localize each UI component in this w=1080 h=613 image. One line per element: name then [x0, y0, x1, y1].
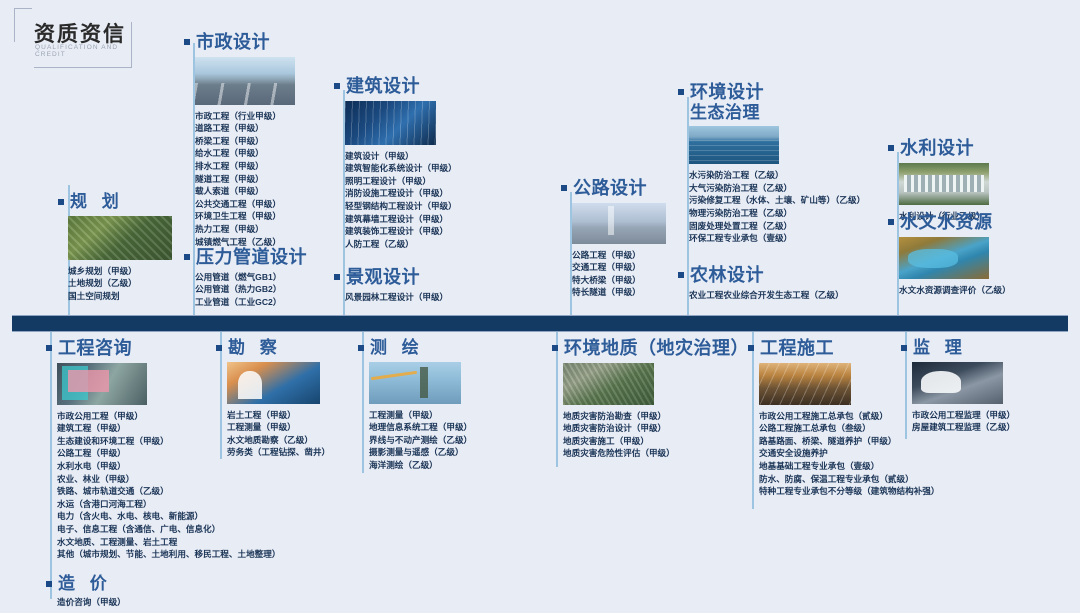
list-item: 特种工程专业承包不分等级（建筑物结构补强）	[759, 485, 988, 498]
bullet-square-icon	[58, 199, 64, 205]
list-item: 水运（含港口河海工程）	[57, 498, 346, 511]
thumbnail-dam-spillway-photo	[899, 163, 989, 205]
block-header: 勘 察	[216, 338, 366, 358]
list-item: 公用管道（燃气GB1）	[195, 271, 344, 284]
list-item: 消防设施工程设计（甲级）	[345, 187, 524, 200]
list-item: 市政工程（行业甲级）	[195, 110, 344, 123]
block-geotechnical-investigation: 勘 察 岩土工程（甲级） 工程测量（甲级） 水文地质勘察（乙级） 劳务类（工程钻…	[216, 338, 366, 459]
bullet-square-icon	[46, 581, 52, 587]
bullet-square-icon	[901, 345, 907, 351]
bullet-square-icon	[678, 272, 684, 278]
block-hydrology-water-resources: 水文水资源 水文水资源调查评价（乙级）	[888, 212, 1078, 296]
bullet-square-icon	[561, 185, 567, 191]
block-items: 市政公用工程监理（甲级） 房屋建筑工程监理（乙级）	[912, 409, 1071, 434]
thumbnail-overlay	[371, 371, 417, 381]
block-title: 景观设计	[346, 267, 420, 288]
block-environmental-geology: 环境地质（地灾治理） 地质灾害防治勘查（甲级） 地质灾害防治设计（甲级） 地质灾…	[552, 338, 752, 460]
list-item: 地基基础工程专业承包（壹级）	[759, 460, 988, 473]
list-item: 建筑设计（甲级）	[345, 150, 524, 163]
block-header: 测 绘	[358, 338, 518, 358]
list-item: 地质灾害危险性评估（甲级）	[563, 447, 752, 460]
list-item: 给水工程（甲级）	[195, 147, 344, 160]
bullet-square-icon	[552, 345, 558, 351]
bullet-square-icon	[888, 219, 894, 225]
thumbnail-city-road-photo	[195, 57, 295, 105]
list-item: 路基路面、桥梁、隧道养护（甲级）	[759, 435, 988, 448]
block-landscape-design: 景观设计 风景园林工程设计（甲级）	[334, 267, 524, 303]
block-title: 工程咨询	[58, 338, 132, 359]
thumbnail-sea-water-photo	[689, 126, 779, 164]
block-title: 建筑设计	[346, 76, 420, 97]
bullet-square-icon	[358, 345, 364, 351]
list-item: 隧道工程（甲级）	[195, 173, 344, 186]
block-items: 造价咨询（甲级）	[57, 596, 346, 609]
block-title: 监 理	[913, 338, 967, 358]
thumbnail-skyscraper-night-photo	[345, 101, 436, 145]
block-title: 水利设计	[900, 138, 974, 159]
block-header: 环境地质（地灾治理）	[552, 338, 752, 359]
thumbnail-highway-bridge-photo	[572, 203, 666, 244]
block-architectural-design: 建筑设计 建筑设计（甲级） 建筑智能化系统设计（甲级） 照明工程设计（甲级） 消…	[334, 76, 524, 250]
list-item: 国土空间规划	[68, 290, 188, 303]
list-item: 桥梁工程（甲级）	[195, 135, 344, 148]
block-header: 建筑设计	[334, 76, 524, 97]
list-item: 公用管道（热力GB2）	[195, 283, 344, 296]
list-item: 电力（含火电、水电、核电、新能源）	[57, 510, 346, 523]
block-items: 地质灾害防治勘查（甲级） 地质灾害防治设计（甲级） 地质灾害施工（甲级） 地质灾…	[563, 410, 752, 460]
list-item: 城乡规划（甲级）	[68, 265, 188, 278]
block-items: 岩土工程（甲级） 工程测量（甲级） 水文地质勘察（乙级） 劳务类（工程钻探、凿井…	[227, 409, 366, 459]
list-item: 轻型钢结构工程设计（甲级）	[345, 200, 524, 213]
block-header: 环境设计	[678, 82, 978, 103]
block-items: 工程测量（甲级） 地理信息系统工程（甲级） 界线与不动产测绘（乙级） 摄影测量与…	[369, 409, 518, 472]
list-item: 热力工程（甲级）	[195, 223, 344, 236]
list-item: 房屋建筑工程监理（乙级）	[912, 421, 1071, 434]
block-header: 市政设计	[184, 32, 344, 53]
list-item: 劳务类（工程钻探、凿井）	[227, 446, 366, 459]
block-header: 监 理	[901, 338, 1071, 358]
list-item: 排水工程（甲级）	[195, 160, 344, 173]
list-item: 摄影测量与遥感（乙级）	[369, 446, 518, 459]
block-municipal-design: 市政设计 市政工程（行业甲级） 道路工程（甲级） 桥梁工程（甲级） 给水工程（甲…	[184, 32, 344, 248]
list-item: 水文地质勘察（乙级）	[227, 434, 366, 447]
bullet-square-icon	[184, 254, 190, 260]
list-item: 交通安全设施养护	[759, 447, 988, 460]
block-planning: 规 划 城乡规划（甲级） 土地规划（乙级） 国土空间规划	[58, 192, 188, 302]
bullet-square-icon	[184, 39, 190, 45]
block-title: 农林设计	[690, 265, 764, 286]
block-title: 环境设计	[690, 82, 764, 103]
list-item: 环境卫生工程（甲级）	[195, 210, 344, 223]
thumbnail-gis-landuse-map-photo	[57, 363, 147, 405]
block-water-conservancy-design: 水利设计 水利设计（行业乙级）	[888, 138, 1078, 222]
block-items: 公用管道（燃气GB1） 公用管道（热力GB2） 工业管道（工业GC2）	[195, 271, 344, 309]
list-item: 地质灾害防治勘查（甲级）	[563, 410, 752, 423]
list-item: 建筑装饰工程设计（甲级）	[345, 225, 524, 238]
list-item: 土地规划（乙级）	[68, 277, 188, 290]
block-header: 造 价	[46, 574, 346, 594]
list-item: 工程测量（甲级）	[227, 421, 366, 434]
block-items: 城乡规划（甲级） 土地规划（乙级） 国土空间规划	[68, 265, 188, 303]
list-item: 地质灾害施工（甲级）	[563, 435, 752, 448]
block-title: 环境地质（地灾治理）	[564, 338, 749, 359]
block-title: 压力管道设计	[196, 247, 307, 268]
thumbnail-aerial-village-planning-photo	[68, 216, 172, 260]
thumbnail-hydrology-map-photo	[899, 237, 989, 279]
list-item: 水利水电（甲级）	[57, 460, 346, 473]
list-item: 工业管道（工业GC2）	[195, 296, 344, 309]
block-cost-consulting: 造 价 造价咨询（甲级）	[46, 574, 346, 608]
brand-title-en: QUALIFICATION AND CREDIT	[35, 44, 132, 58]
block-header: 水利设计	[888, 138, 1078, 159]
list-item: 造价咨询（甲级）	[57, 596, 346, 609]
block-header: 景观设计	[334, 267, 524, 288]
block-title: 勘 察	[228, 338, 282, 358]
block-items: 市政工程（行业甲级） 道路工程（甲级） 桥梁工程（甲级） 给水工程（甲级） 排水…	[195, 110, 344, 249]
list-item: 载人索道（甲级）	[195, 185, 344, 198]
list-item: 电子、信息工程（含通信、广电、信息化）	[57, 523, 346, 536]
block-supervision: 监 理 市政公用工程监理（甲级） 房屋建筑工程监理（乙级）	[901, 338, 1071, 434]
list-item: 照明工程设计（甲级）	[345, 175, 524, 188]
block-title: 市政设计	[196, 32, 270, 53]
list-item: 铁路、城市轨道交通（乙级）	[57, 485, 346, 498]
block-title: 公路设计	[573, 178, 647, 199]
block-items: 风景园林工程设计（甲级）	[345, 291, 524, 304]
list-item: 地质灾害防治设计（甲级）	[563, 422, 752, 435]
list-item: 其他（城市规划、节能、土地利用、移民工程、土地整理）	[57, 548, 346, 561]
list-item: 人防工程（乙级）	[345, 238, 524, 251]
thumbnail-construction-site-photo	[759, 363, 851, 405]
list-item: 风景园林工程设计（甲级）	[345, 291, 524, 304]
thumbnail-overlay	[62, 366, 87, 400]
infographic-canvas: 资质资信 QUALIFICATION AND CREDIT 规 划 城乡规划（甲…	[0, 0, 1080, 613]
list-item: 市政公用工程监理（甲级）	[912, 409, 1071, 422]
brand-logo: 资质资信 QUALIFICATION AND CREDIT	[14, 8, 132, 68]
thumbnail-safety-helmet-photo	[912, 362, 1003, 404]
block-pressure-pipeline-design: 压力管道设计 公用管道（燃气GB1） 公用管道（热力GB2） 工业管道（工业GC…	[184, 247, 344, 308]
thumbnail-site-survey-workers-photo	[227, 362, 320, 404]
list-item: 地理信息系统工程（甲级）	[369, 421, 518, 434]
brand-frame-mask-left	[12, 42, 34, 72]
block-subtitle: 生态治理	[690, 103, 978, 123]
block-header: 规 划	[58, 192, 188, 212]
list-item: 岩土工程（甲级）	[227, 409, 366, 422]
block-title: 测 绘	[370, 338, 424, 358]
block-title: 造 价	[58, 574, 112, 594]
list-item: 建筑幕墙工程设计（甲级）	[345, 213, 524, 226]
timeline-bar	[12, 315, 1068, 332]
thumbnail-landslide-hillside-photo	[563, 363, 654, 405]
bullet-square-icon	[334, 274, 340, 280]
bullet-square-icon	[216, 345, 222, 351]
list-item: 公共交通工程（甲级）	[195, 198, 344, 211]
list-item: 防水、防腐、保温工程专业承包（贰级）	[759, 473, 988, 486]
block-items: 建筑设计（甲级） 建筑智能化系统设计（甲级） 照明工程设计（甲级） 消防设施工程…	[345, 150, 524, 251]
bullet-square-icon	[748, 345, 754, 351]
thumbnail-total-station-survey-photo	[369, 362, 461, 404]
list-item: 水文水资源调查评价（乙级）	[899, 284, 1078, 297]
list-item: 工程测量（甲级）	[369, 409, 518, 422]
block-title: 工程施工	[760, 338, 834, 359]
list-item: 水文地质、工程测量、岩土工程	[57, 536, 346, 549]
list-item: 公路工程（甲级）	[572, 249, 711, 262]
list-item: 农业、林业（甲级）	[57, 473, 346, 486]
block-header: 压力管道设计	[184, 247, 344, 268]
bullet-square-icon	[678, 89, 684, 95]
list-item: 海洋测绘（乙级）	[369, 459, 518, 472]
block-title: 水文水资源	[900, 212, 993, 233]
bullet-square-icon	[46, 345, 52, 351]
block-items: 水文水资源调查评价（乙级）	[899, 284, 1078, 297]
list-item: 建筑智能化系统设计（甲级）	[345, 162, 524, 175]
bullet-square-icon	[334, 83, 340, 89]
block-surveying-mapping: 测 绘 工程测量（甲级） 地理信息系统工程（甲级） 界线与不动产测绘（乙级） 摄…	[358, 338, 518, 472]
block-title: 规 划	[70, 192, 124, 212]
list-item: 道路工程（甲级）	[195, 122, 344, 135]
block-header: 水文水资源	[888, 212, 1078, 233]
list-item: 界线与不动产测绘（乙级）	[369, 434, 518, 447]
bullet-square-icon	[888, 145, 894, 151]
